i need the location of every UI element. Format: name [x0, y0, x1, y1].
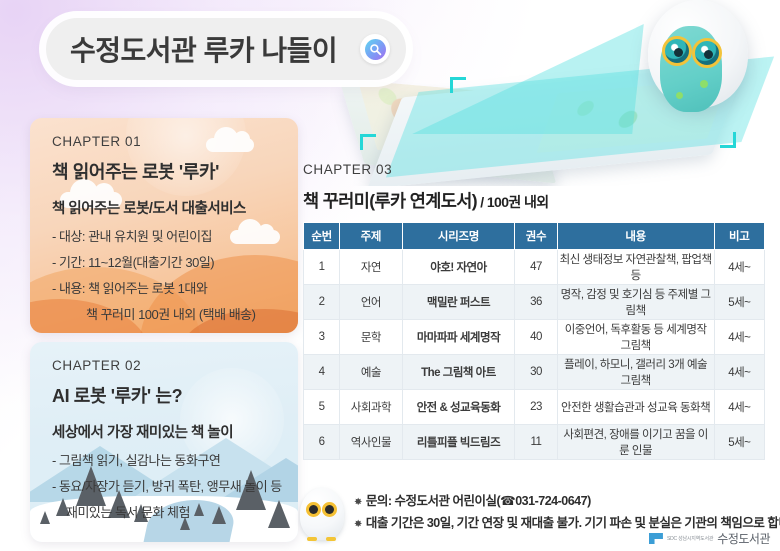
column-header-note: 비고 — [714, 223, 764, 250]
cell-desc: 최신 생태정보 자연관찰책, 팝업책 등 — [557, 250, 714, 285]
chapter-02-label: CHAPTER 02 — [52, 358, 282, 373]
table-row: 3 문학 마마파파 세계명작 40 이중언어, 독후활동 등 세계명작 그림책 … — [304, 320, 765, 355]
cell-topic: 문학 — [340, 320, 402, 355]
cell-topic: 언어 — [340, 285, 402, 320]
book-series-table: 순번 주제 시리즈명 권수 내용 비고 1 자연 야호! 자연아 47 최신 생… — [303, 222, 765, 460]
luka-robot — [640, 0, 748, 112]
cell-series: 리틀피플 빅드림즈 — [402, 425, 515, 460]
cell-count: 36 — [515, 285, 557, 320]
robot-eye-left — [662, 36, 692, 66]
brand-name: 수정도서관 — [717, 530, 770, 547]
column-header-topic: 주제 — [340, 223, 402, 250]
cell-note: 5세~ — [714, 285, 764, 320]
cell-note: 4세~ — [714, 320, 764, 355]
chapter-02-bullet: - 그림책 읽기, 실감나는 동화구연 — [52, 450, 282, 469]
column-header-count: 권수 — [515, 223, 557, 250]
cell-no: 6 — [304, 425, 340, 460]
flag-icon — [649, 533, 663, 544]
table-row: 1 자연 야호! 자연아 47 최신 생태정보 자연관찰책, 팝업책 등 4세~ — [304, 250, 765, 285]
chapter-01-label: CHAPTER 01 — [52, 134, 282, 149]
library-brand-logo: SDC 성남시지역도서관 수정도서관 — [649, 530, 770, 547]
cell-topic: 자연 — [340, 250, 402, 285]
cell-topic: 예술 — [340, 355, 402, 390]
owl-pupil — [309, 505, 318, 514]
cell-series: 마마파파 세계명작 — [402, 320, 515, 355]
cell-desc: 이중언어, 독후활동 등 세계명작 그림책 — [557, 320, 714, 355]
table-row: 5 사회과학 안전 & 성교육동화 23 안전한 생활습관과 성교육 동화책 4… — [304, 390, 765, 425]
robot-dot — [676, 92, 683, 99]
owl-mascot — [300, 488, 344, 542]
search-button[interactable] — [360, 34, 390, 64]
table-row: 6 역사인물 리틀피플 빅드림즈 11 사회편견, 장애를 이기고 꿈을 이룬 … — [304, 425, 765, 460]
cell-no: 2 — [304, 285, 340, 320]
column-header-no: 순번 — [304, 223, 340, 250]
robot-eye-right — [692, 38, 722, 68]
chapter-02-subtitle: 세상에서 가장 재미있는 책 놀이 — [52, 421, 282, 442]
footer-contact-text: 문의: 수정도서관 어린이실(☎031-724-0647) — [366, 494, 591, 508]
cell-count: 40 — [515, 320, 557, 355]
bullet-mark-icon: ✸ — [354, 519, 362, 530]
chapter-02-title: AI 로봇 '루카' 는? — [52, 382, 282, 408]
chapter-01-bullet: - 내용: 책 읽어주는 로봇 1대와 — [52, 278, 282, 297]
cell-topic: 역사인물 — [340, 425, 402, 460]
scan-corner-bottom-left — [360, 134, 376, 150]
robot-pupil — [674, 48, 683, 57]
column-header-desc: 내용 — [557, 223, 714, 250]
scan-beam — [412, 24, 644, 134]
table-header-row: 순번 주제 시리즈명 권수 내용 비고 — [304, 223, 765, 250]
owl-foot-right — [326, 537, 336, 541]
cell-note: 4세~ — [714, 390, 764, 425]
chapter-03-title-main: 책 꾸러미(루카 연계도서) — [303, 191, 477, 211]
search-icon — [365, 39, 386, 60]
chapter-01-title: 책 읽어주는 로봇 '루카' — [52, 158, 282, 184]
cell-count: 11 — [515, 425, 557, 460]
footer-policy-text: 대출 기간은 30일, 기간 연장 및 재대출 불가. 기기 파손 및 분실은 … — [366, 516, 780, 530]
cell-desc: 사회편견, 장애를 이기고 꿈을 이룬 인물 — [557, 425, 714, 460]
footer: ✸문의: 수정도서관 어린이실(☎031-724-0647) ✸대출 기간은 3… — [296, 486, 776, 548]
cell-no: 4 — [304, 355, 340, 390]
owl-pupil — [325, 505, 334, 514]
brand-subtitle: SDC 성남시지역도서관 — [667, 535, 713, 542]
cell-no: 3 — [304, 320, 340, 355]
scan-corner-bottom-right — [720, 132, 736, 148]
chapter-01-bullet: - 기간: 11~12월(대출기간 30일) — [52, 252, 282, 271]
cell-desc: 명작, 감정 및 호기심 등 주제별 그림책 — [557, 285, 714, 320]
cell-count: 47 — [515, 250, 557, 285]
robot-dot — [700, 80, 708, 88]
column-header-series: 시리즈명 — [402, 223, 515, 250]
cell-note: 5세~ — [714, 425, 764, 460]
cell-desc: 안전한 생활습관과 성교육 동화책 — [557, 390, 714, 425]
owl-foot-left — [307, 537, 317, 541]
cell-no: 5 — [304, 390, 340, 425]
chapter-03-label: CHAPTER 03 — [303, 162, 392, 177]
chapter-02-card: CHAPTER 02 AI 로봇 '루카' 는? 세상에서 가장 재미있는 책 … — [30, 342, 298, 542]
cell-no: 1 — [304, 250, 340, 285]
table-row: 4 예술 The 그림책 아트 30 플레이, 하모니, 갤러리 3개 예술 그… — [304, 355, 765, 390]
cell-series: 야호! 자연아 — [402, 250, 515, 285]
chapter-01-bullet: - 대상: 관내 유치원 및 어린이집 — [52, 226, 282, 245]
poster-canvas: 수정도서관 루카 나들이 CHAPTER 01 책 읽어주는 로봇 '루카' 책… — [0, 0, 780, 551]
footer-policy-line: ✸대출 기간은 30일, 기간 연장 및 재대출 불가. 기기 파손 및 분실은… — [354, 512, 780, 531]
cell-count: 30 — [515, 355, 557, 390]
chapter-03-title-suffix: / 100권 내외 — [477, 194, 549, 210]
owl-eye-left — [306, 502, 321, 517]
chapter-01-card: CHAPTER 01 책 읽어주는 로봇 '루카' 책 읽어주는 로봇/도서 대… — [30, 118, 298, 333]
cell-note: 4세~ — [714, 250, 764, 285]
owl-eye-right — [322, 502, 337, 517]
bullet-mark-icon: ✸ — [354, 497, 362, 508]
chapter-01-bullet: 책 꾸러미 100권 내외 (택배 배송) — [52, 304, 282, 323]
cell-desc: 플레이, 하모니, 갤러리 3개 예술 그림책 — [557, 355, 714, 390]
chapter-01-subtitle: 책 읽어주는 로봇/도서 대출서비스 — [52, 197, 282, 218]
cell-topic: 사회과학 — [340, 390, 402, 425]
page-title-pill: 수정도서관 루카 나들이 — [46, 18, 406, 80]
chapter-02-bullet: 재미있는 독서 문화 체험 — [52, 502, 282, 521]
chapter-03-title: 책 꾸러미(루카 연계도서) / 100권 내외 — [303, 188, 549, 213]
cell-count: 23 — [515, 390, 557, 425]
cell-series: 맥밀란 퍼스트 — [402, 285, 515, 320]
cell-note: 4세~ — [714, 355, 764, 390]
table-row: 2 언어 맥밀란 퍼스트 36 명작, 감정 및 호기심 등 주제별 그림책 5… — [304, 285, 765, 320]
page-title: 수정도서관 루카 나들이 — [70, 29, 360, 69]
footer-contact-line: ✸문의: 수정도서관 어린이실(☎031-724-0647) — [354, 490, 591, 509]
scan-corner-top-left — [450, 77, 466, 93]
robot-pupil — [704, 50, 713, 59]
cell-series: The 그림책 아트 — [402, 355, 515, 390]
chapter-02-bullet: - 동요/자장가 듣기, 방귀 폭탄, 앵무새 놀이 등 — [52, 476, 282, 495]
cell-series: 안전 & 성교육동화 — [402, 390, 515, 425]
